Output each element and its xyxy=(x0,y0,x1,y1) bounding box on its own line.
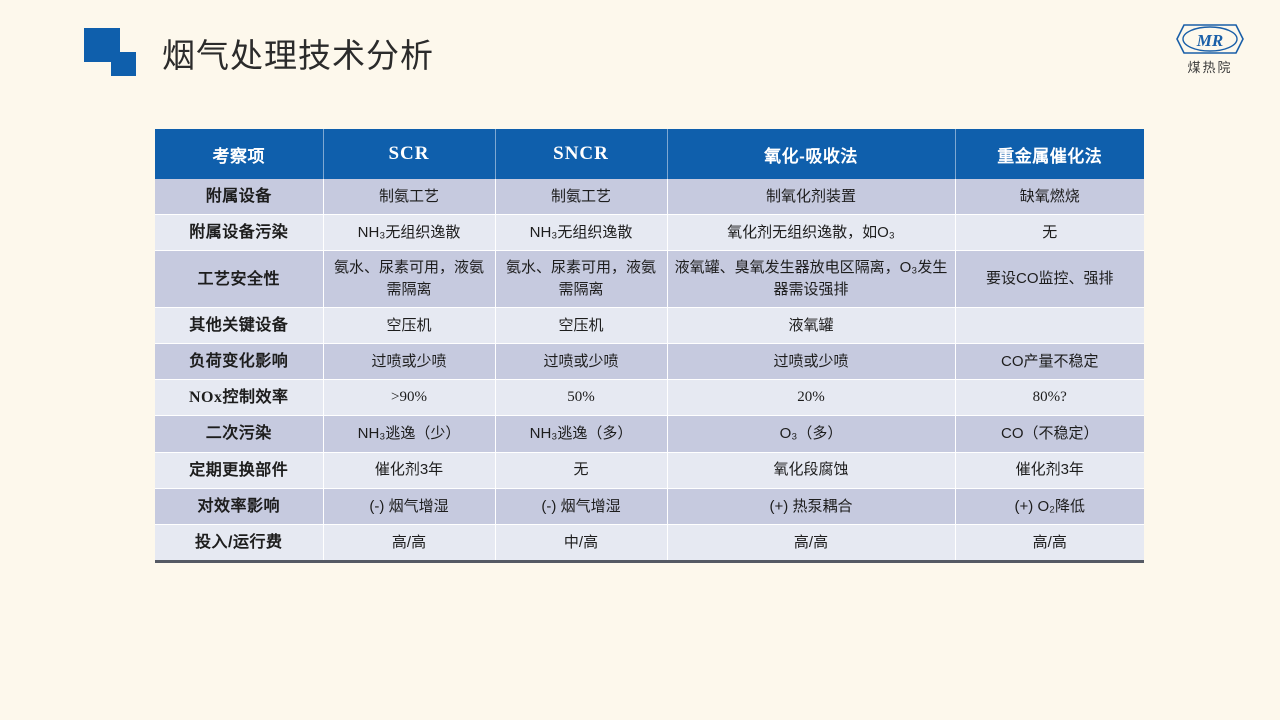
cell-sncr: 无 xyxy=(495,452,667,488)
cell-oxidation: 氧化段腐蚀 xyxy=(667,452,955,488)
cell-scr: 制氨工艺 xyxy=(323,179,495,215)
table-header-scr: SCR xyxy=(323,129,495,179)
mr-hexagon-badge-icon: MR xyxy=(1174,22,1246,56)
cell-heavy-metal: 缺氧燃烧 xyxy=(955,179,1144,215)
cell-sncr: (-) 烟气增湿 xyxy=(495,488,667,524)
row-label: 对效率影响 xyxy=(155,488,323,524)
table-header-criteria: 考察项 xyxy=(155,129,323,179)
table-body: 附属设备 制氨工艺 制氨工艺 制氧化剂装置 缺氧燃烧 附属设备污染 NH₃无组织… xyxy=(155,179,1144,560)
cell-oxidation: 制氧化剂装置 xyxy=(667,179,955,215)
row-label: 附属设备 xyxy=(155,179,323,215)
table-row: 附属设备 制氨工艺 制氨工艺 制氧化剂装置 缺氧燃烧 xyxy=(155,179,1144,215)
cell-sncr: NH₃逃逸（多） xyxy=(495,416,667,452)
cell-scr: 空压机 xyxy=(323,307,495,343)
cell-scr: 催化剂3年 xyxy=(323,452,495,488)
table-row: 负荷变化影响 过喷或少喷 过喷或少喷 过喷或少喷 CO产量不稳定 xyxy=(155,344,1144,380)
cell-sncr: 中/高 xyxy=(495,525,667,561)
cell-oxidation: O₃（多） xyxy=(667,416,955,452)
cell-heavy-metal: CO产量不稳定 xyxy=(955,344,1144,380)
table-bottom-rule xyxy=(155,560,1144,563)
table-row: 对效率影响 (-) 烟气增湿 (-) 烟气增湿 (+) 热泵耦合 (+) O₂降… xyxy=(155,488,1144,524)
svg-text:MR: MR xyxy=(1196,31,1223,50)
cell-sncr: NH₃无组织逸散 xyxy=(495,215,667,251)
table-row: 二次污染 NH₃逃逸（少） NH₃逃逸（多） O₃（多） CO（不稳定） xyxy=(155,416,1144,452)
table-row: NOx控制效率 >90% 50% 20% 80%? xyxy=(155,380,1144,416)
table-header-sncr: SNCR xyxy=(495,129,667,179)
row-label: 其他关键设备 xyxy=(155,307,323,343)
cell-oxidation: 氧化剂无组织逸散，如O₃ xyxy=(667,215,955,251)
cell-heavy-metal: 无 xyxy=(955,215,1144,251)
cell-heavy-metal xyxy=(955,307,1144,343)
cell-scr: (-) 烟气增湿 xyxy=(323,488,495,524)
cell-heavy-metal: (+) O₂降低 xyxy=(955,488,1144,524)
cell-heavy-metal: 80%? xyxy=(955,380,1144,416)
cell-scr: 过喷或少喷 xyxy=(323,344,495,380)
cell-sncr: 制氨工艺 xyxy=(495,179,667,215)
cell-oxidation: 过喷或少喷 xyxy=(667,344,955,380)
cell-scr: 高/高 xyxy=(323,525,495,561)
table-header-heavy-metal-catalysis: 重金属催化法 xyxy=(955,129,1144,179)
logo-square-small xyxy=(111,52,136,76)
cell-heavy-metal: 催化剂3年 xyxy=(955,452,1144,488)
corporate-logo: MR 煤热院 xyxy=(1164,22,1256,76)
cell-oxidation: 高/高 xyxy=(667,525,955,561)
cell-scr: NH₃逃逸（少） xyxy=(323,416,495,452)
cell-oxidation: 液氧罐、臭氧发生器放电区隔离，O₃发生器需设强排 xyxy=(667,251,955,308)
corporate-name: 煤热院 xyxy=(1164,57,1256,76)
table-header-row: 考察项 SCR SNCR 氧化-吸收法 重金属催化法 xyxy=(155,129,1144,179)
table-row: 其他关键设备 空压机 空压机 液氧罐 xyxy=(155,307,1144,343)
cell-heavy-metal: 要设CO监控、强排 xyxy=(955,251,1144,308)
cell-sncr: 氨水、尿素可用，液氨需隔离 xyxy=(495,251,667,308)
comparison-table-container: 考察项 SCR SNCR 氧化-吸收法 重金属催化法 附属设备 制氨工艺 制氨工… xyxy=(155,129,1144,563)
cell-sncr: 空压机 xyxy=(495,307,667,343)
row-label: 附属设备污染 xyxy=(155,215,323,251)
table-row: 定期更换部件 催化剂3年 无 氧化段腐蚀 催化剂3年 xyxy=(155,452,1144,488)
cell-sncr: 过喷或少喷 xyxy=(495,344,667,380)
row-label: 负荷变化影响 xyxy=(155,344,323,380)
row-label: 定期更换部件 xyxy=(155,452,323,488)
cell-heavy-metal: 高/高 xyxy=(955,525,1144,561)
cell-sncr: 50% xyxy=(495,380,667,416)
technology-comparison-table: 考察项 SCR SNCR 氧化-吸收法 重金属催化法 附属设备 制氨工艺 制氨工… xyxy=(155,129,1144,560)
cell-oxidation: (+) 热泵耦合 xyxy=(667,488,955,524)
stepped-squares-logo-icon xyxy=(84,28,140,80)
cell-scr: >90% xyxy=(323,380,495,416)
cell-scr: NH₃无组织逸散 xyxy=(323,215,495,251)
row-label: 二次污染 xyxy=(155,416,323,452)
slide-canvas: 烟气处理技术分析 MR 煤热院 考察项 SCR SNCR 氧化-吸收法 重金 xyxy=(0,0,1280,720)
cell-oxidation: 液氧罐 xyxy=(667,307,955,343)
table-row: 工艺安全性 氨水、尿素可用，液氨需隔离 氨水、尿素可用，液氨需隔离 液氧罐、臭氧… xyxy=(155,251,1144,308)
table-row: 附属设备污染 NH₃无组织逸散 NH₃无组织逸散 氧化剂无组织逸散，如O₃ 无 xyxy=(155,215,1144,251)
cell-heavy-metal: CO（不稳定） xyxy=(955,416,1144,452)
row-label: 工艺安全性 xyxy=(155,251,323,308)
page-title: 烟气处理技术分析 xyxy=(162,29,434,77)
table-header-oxidation-absorption: 氧化-吸收法 xyxy=(667,129,955,179)
row-label: 投入/运行费 xyxy=(155,525,323,561)
row-label: NOx控制效率 xyxy=(155,380,323,416)
table-row: 投入/运行费 高/高 中/高 高/高 高/高 xyxy=(155,525,1144,561)
slide-header: 烟气处理技术分析 MR 煤热院 xyxy=(0,0,1280,108)
cell-scr: 氨水、尿素可用，液氨需隔离 xyxy=(323,251,495,308)
cell-oxidation: 20% xyxy=(667,380,955,416)
